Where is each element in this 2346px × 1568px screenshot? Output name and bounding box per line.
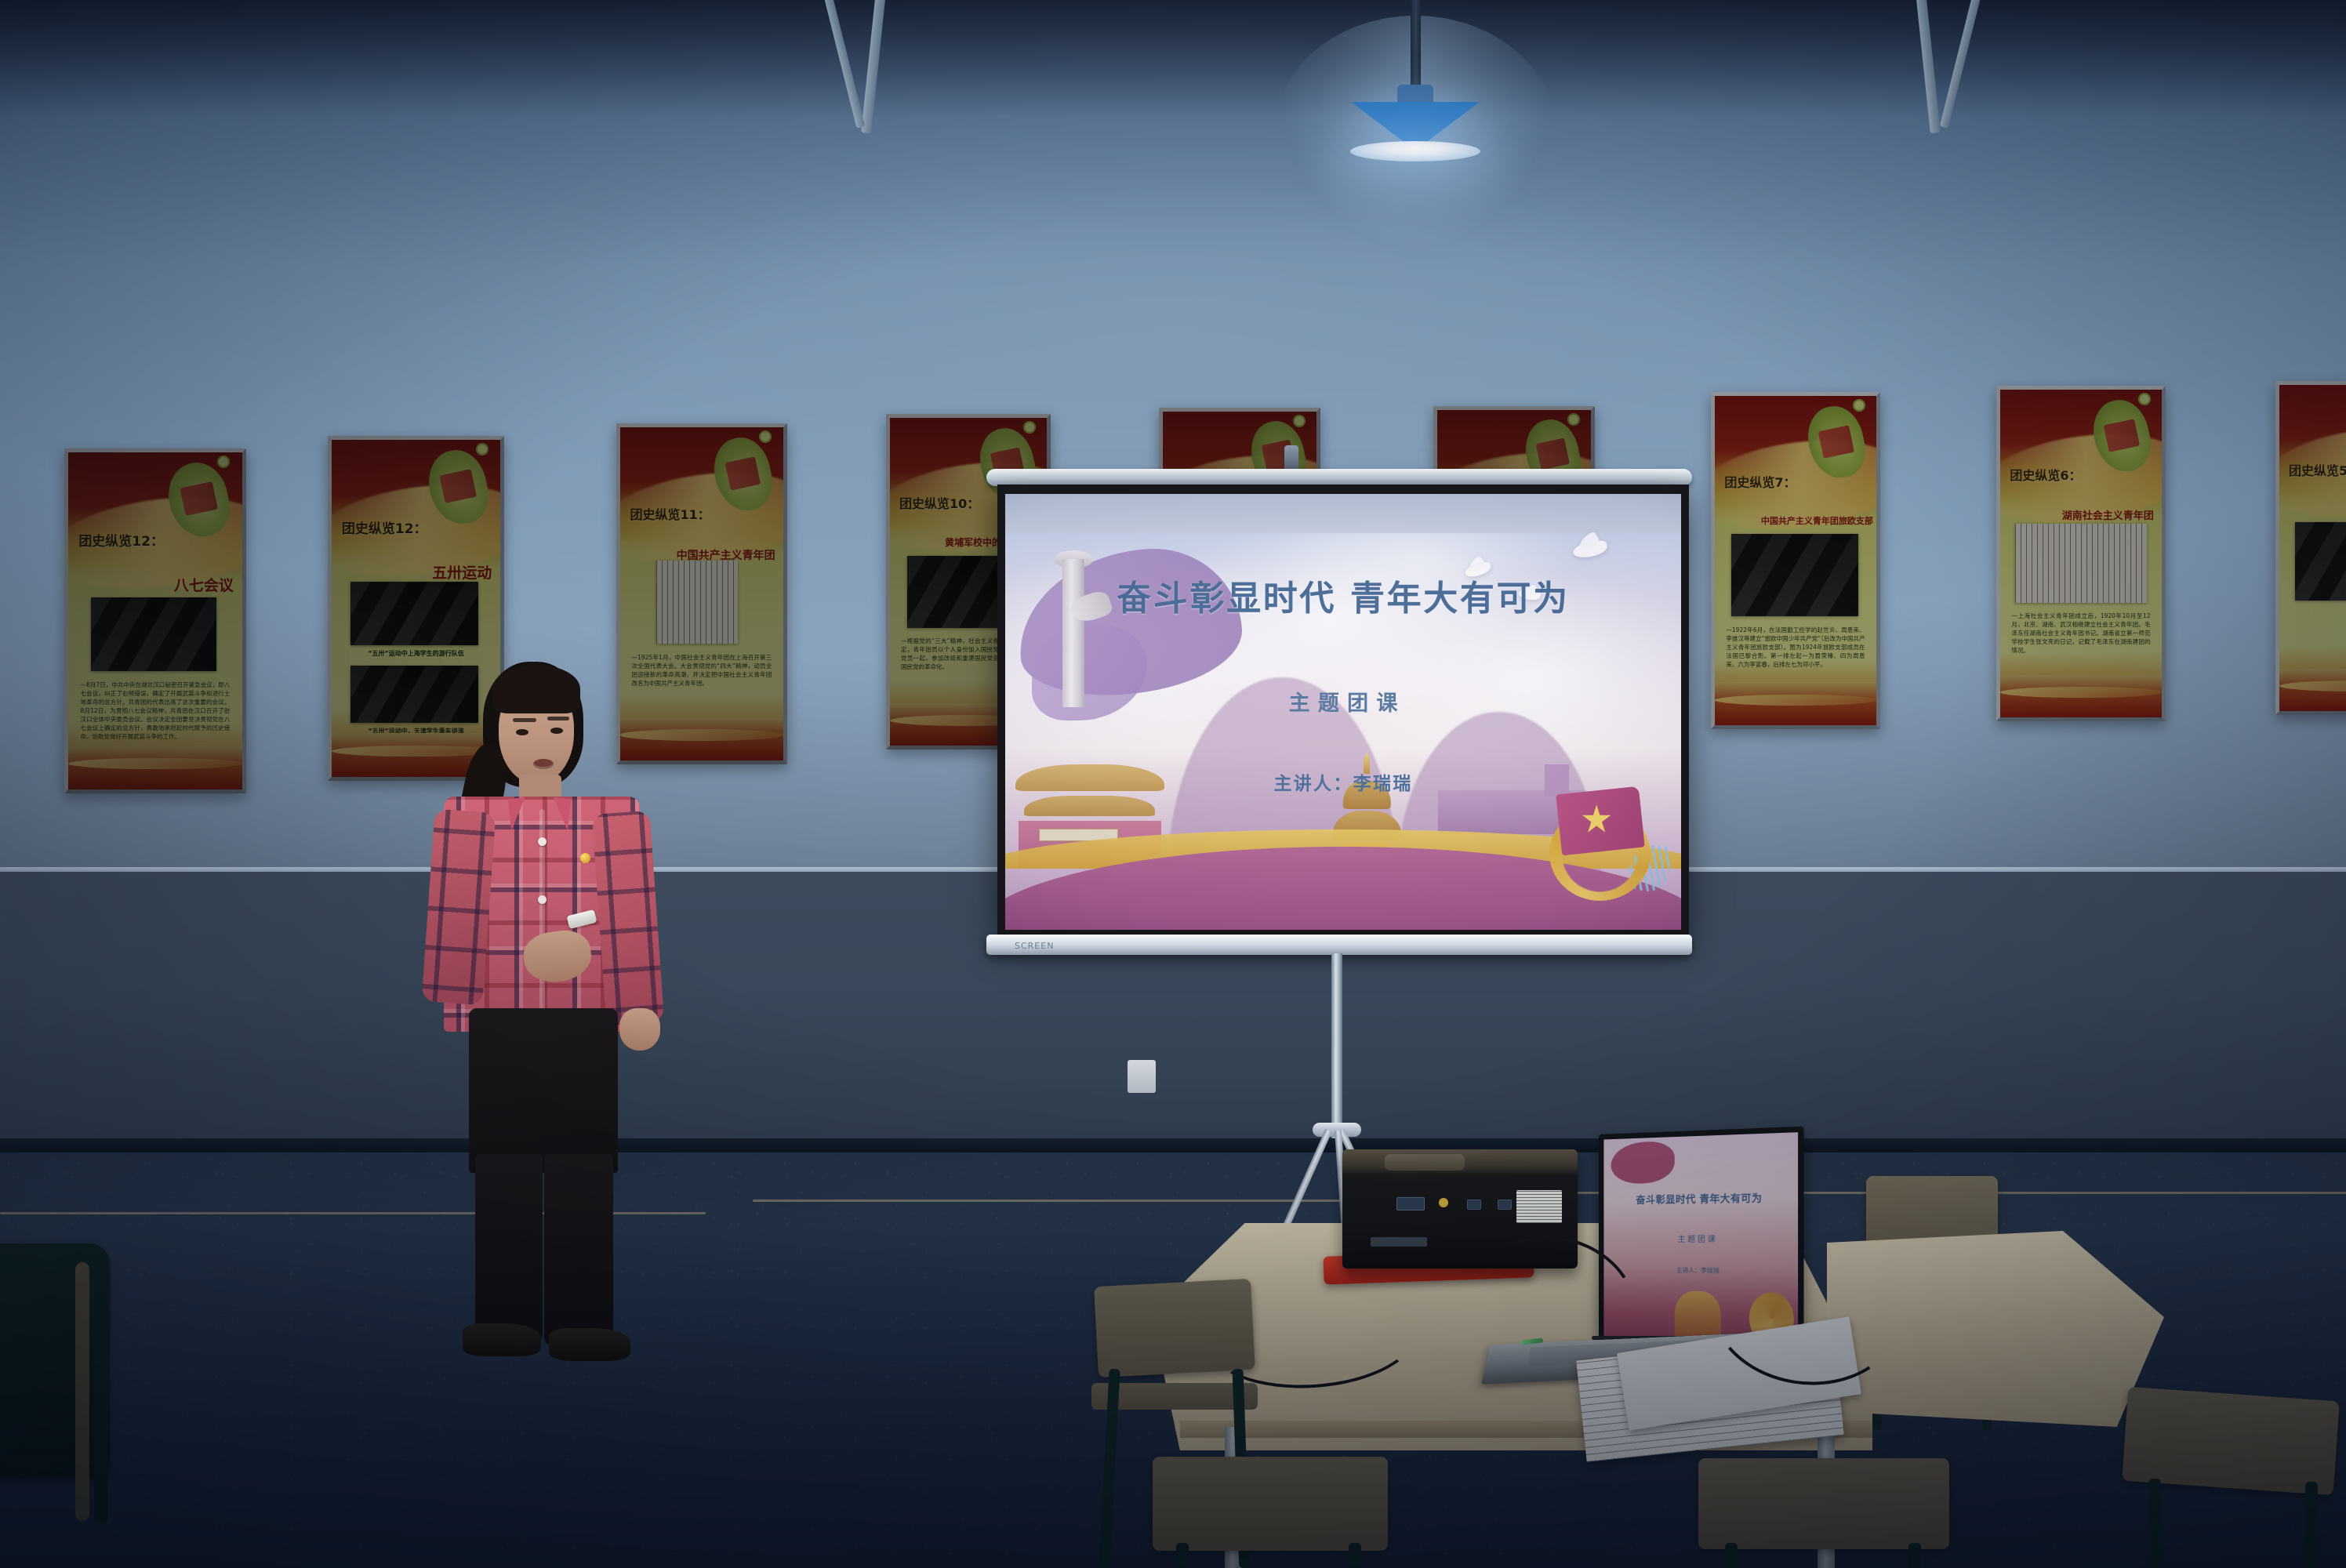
presenter-shoe (549, 1328, 630, 1361)
presenter-hand (619, 1008, 660, 1051)
poster-7-series: 团史纵览7： (1724, 472, 1796, 491)
chair-foreground-left[interactable] (0, 1243, 125, 1568)
projector-port (1498, 1200, 1512, 1210)
screen-surface: 奋斗彰显时代 青年大有可为 主题团课 主讲人：李瑞瑞 (1005, 494, 1681, 930)
poster-8-topic: 湖南社会主义青年团 (2062, 507, 2154, 522)
poster-1: 团史纵览12： 八七会议 —8月7日，中共中央在湖北汉口秘密召开紧急会议，即八七… (64, 448, 246, 793)
projector-handle (1385, 1154, 1465, 1171)
carpet-seam (753, 1200, 1349, 1202)
wall-socket-plate (1128, 1060, 1156, 1093)
youth-league-emblem-icon (1542, 790, 1658, 908)
presenter-collar (508, 797, 528, 830)
presenter-collar (550, 797, 571, 830)
ceiling-bracket-left (831, 0, 941, 149)
poster-1-series: 团史纵览12： (78, 530, 164, 550)
presenter-mouth (533, 759, 554, 769)
slide-title: 奋斗彰显时代 青年大有可为 (1005, 570, 1681, 620)
chair-bottom-right[interactable] (1698, 1450, 1957, 1568)
poster-3-series: 团史纵览11： (630, 504, 710, 523)
slide-presenter-line: 主讲人：李瑞瑞 (1005, 768, 1681, 795)
poster-8: 团史纵览6： 湖南社会主义青年团 —上海社会主义青年团成立后，1920年10月至… (1996, 386, 2166, 721)
laptop-slide-title: 奋斗彰显时代 青年大有可为 (1603, 1189, 1798, 1207)
ceiling-bracket-right (1882, 0, 1999, 149)
presenter-shoe (463, 1323, 541, 1356)
slide-top-band (1005, 494, 1681, 533)
classroom-presentation-scene: 团史纵览12： 八七会议 —8月7日，中共中央在湖北汉口秘密召开紧急会议，即八七… (0, 0, 2346, 1568)
chair-far-right[interactable] (2125, 1394, 2346, 1568)
presenter-eye (516, 729, 528, 735)
lamp-rod (1411, 0, 1421, 86)
presenter-brow (547, 717, 569, 720)
screen-tripod-pole (1331, 953, 1342, 1138)
poster-1-topic: 八七会议 (174, 574, 234, 595)
projector-port (1467, 1200, 1481, 1210)
presenter-leg (544, 1154, 613, 1345)
presenter-fringe (492, 665, 580, 713)
presenter-shirt-button (538, 837, 547, 846)
presenter-leg (475, 1154, 543, 1342)
screen-brand-label: SCREEN (1015, 941, 1054, 951)
projector-vga-port (1396, 1197, 1425, 1210)
presenter-brow (513, 718, 536, 722)
presenter-shirt-button (538, 895, 547, 904)
poster-8-series: 团史纵览6： (2010, 465, 2081, 484)
projector-av-port (1439, 1198, 1448, 1207)
presenter-eye (550, 728, 563, 734)
poster-2-topic: 五卅运动 (432, 561, 492, 583)
chair-bottom-center[interactable] (1153, 1441, 1404, 1568)
projector-hdmi-slot (1371, 1237, 1427, 1247)
slide-subtitle: 主题团课 (1005, 686, 1681, 717)
screen-bottom-rail: SCREEN (986, 935, 1692, 955)
poster-2-series: 团史纵览12： (342, 517, 427, 537)
presenter (414, 643, 681, 1372)
screen-frame: 奋斗彰显时代 青年大有可为 主题团课 主讲人：李瑞瑞 (997, 485, 1689, 936)
poster-7-topic: 中国共产主义青年团旅欧支部 (1761, 514, 1873, 527)
screen-top-rail (986, 469, 1692, 486)
poster-9-series: 团史纵览5： (2289, 460, 2346, 479)
presenter-trousers (469, 1008, 618, 1173)
presenter-badge-pin (580, 853, 590, 863)
projection-screen-unit: 奋斗彰显时代 青年大有可为 主题团课 主讲人：李瑞瑞 SCREEN (986, 464, 1692, 982)
screen-ceiling-hook (1284, 445, 1298, 472)
lamp-bulb-glow (1350, 141, 1480, 162)
poster-9: 团史纵览5： 青年团早期组织 (2275, 381, 2346, 715)
poster-4-series: 团史纵览10： (899, 493, 979, 512)
poster-7: 团史纵览7： 中国共产主义青年团旅欧支部 —1922年6月，在法国勤工俭学的赵世… (1711, 392, 1880, 729)
